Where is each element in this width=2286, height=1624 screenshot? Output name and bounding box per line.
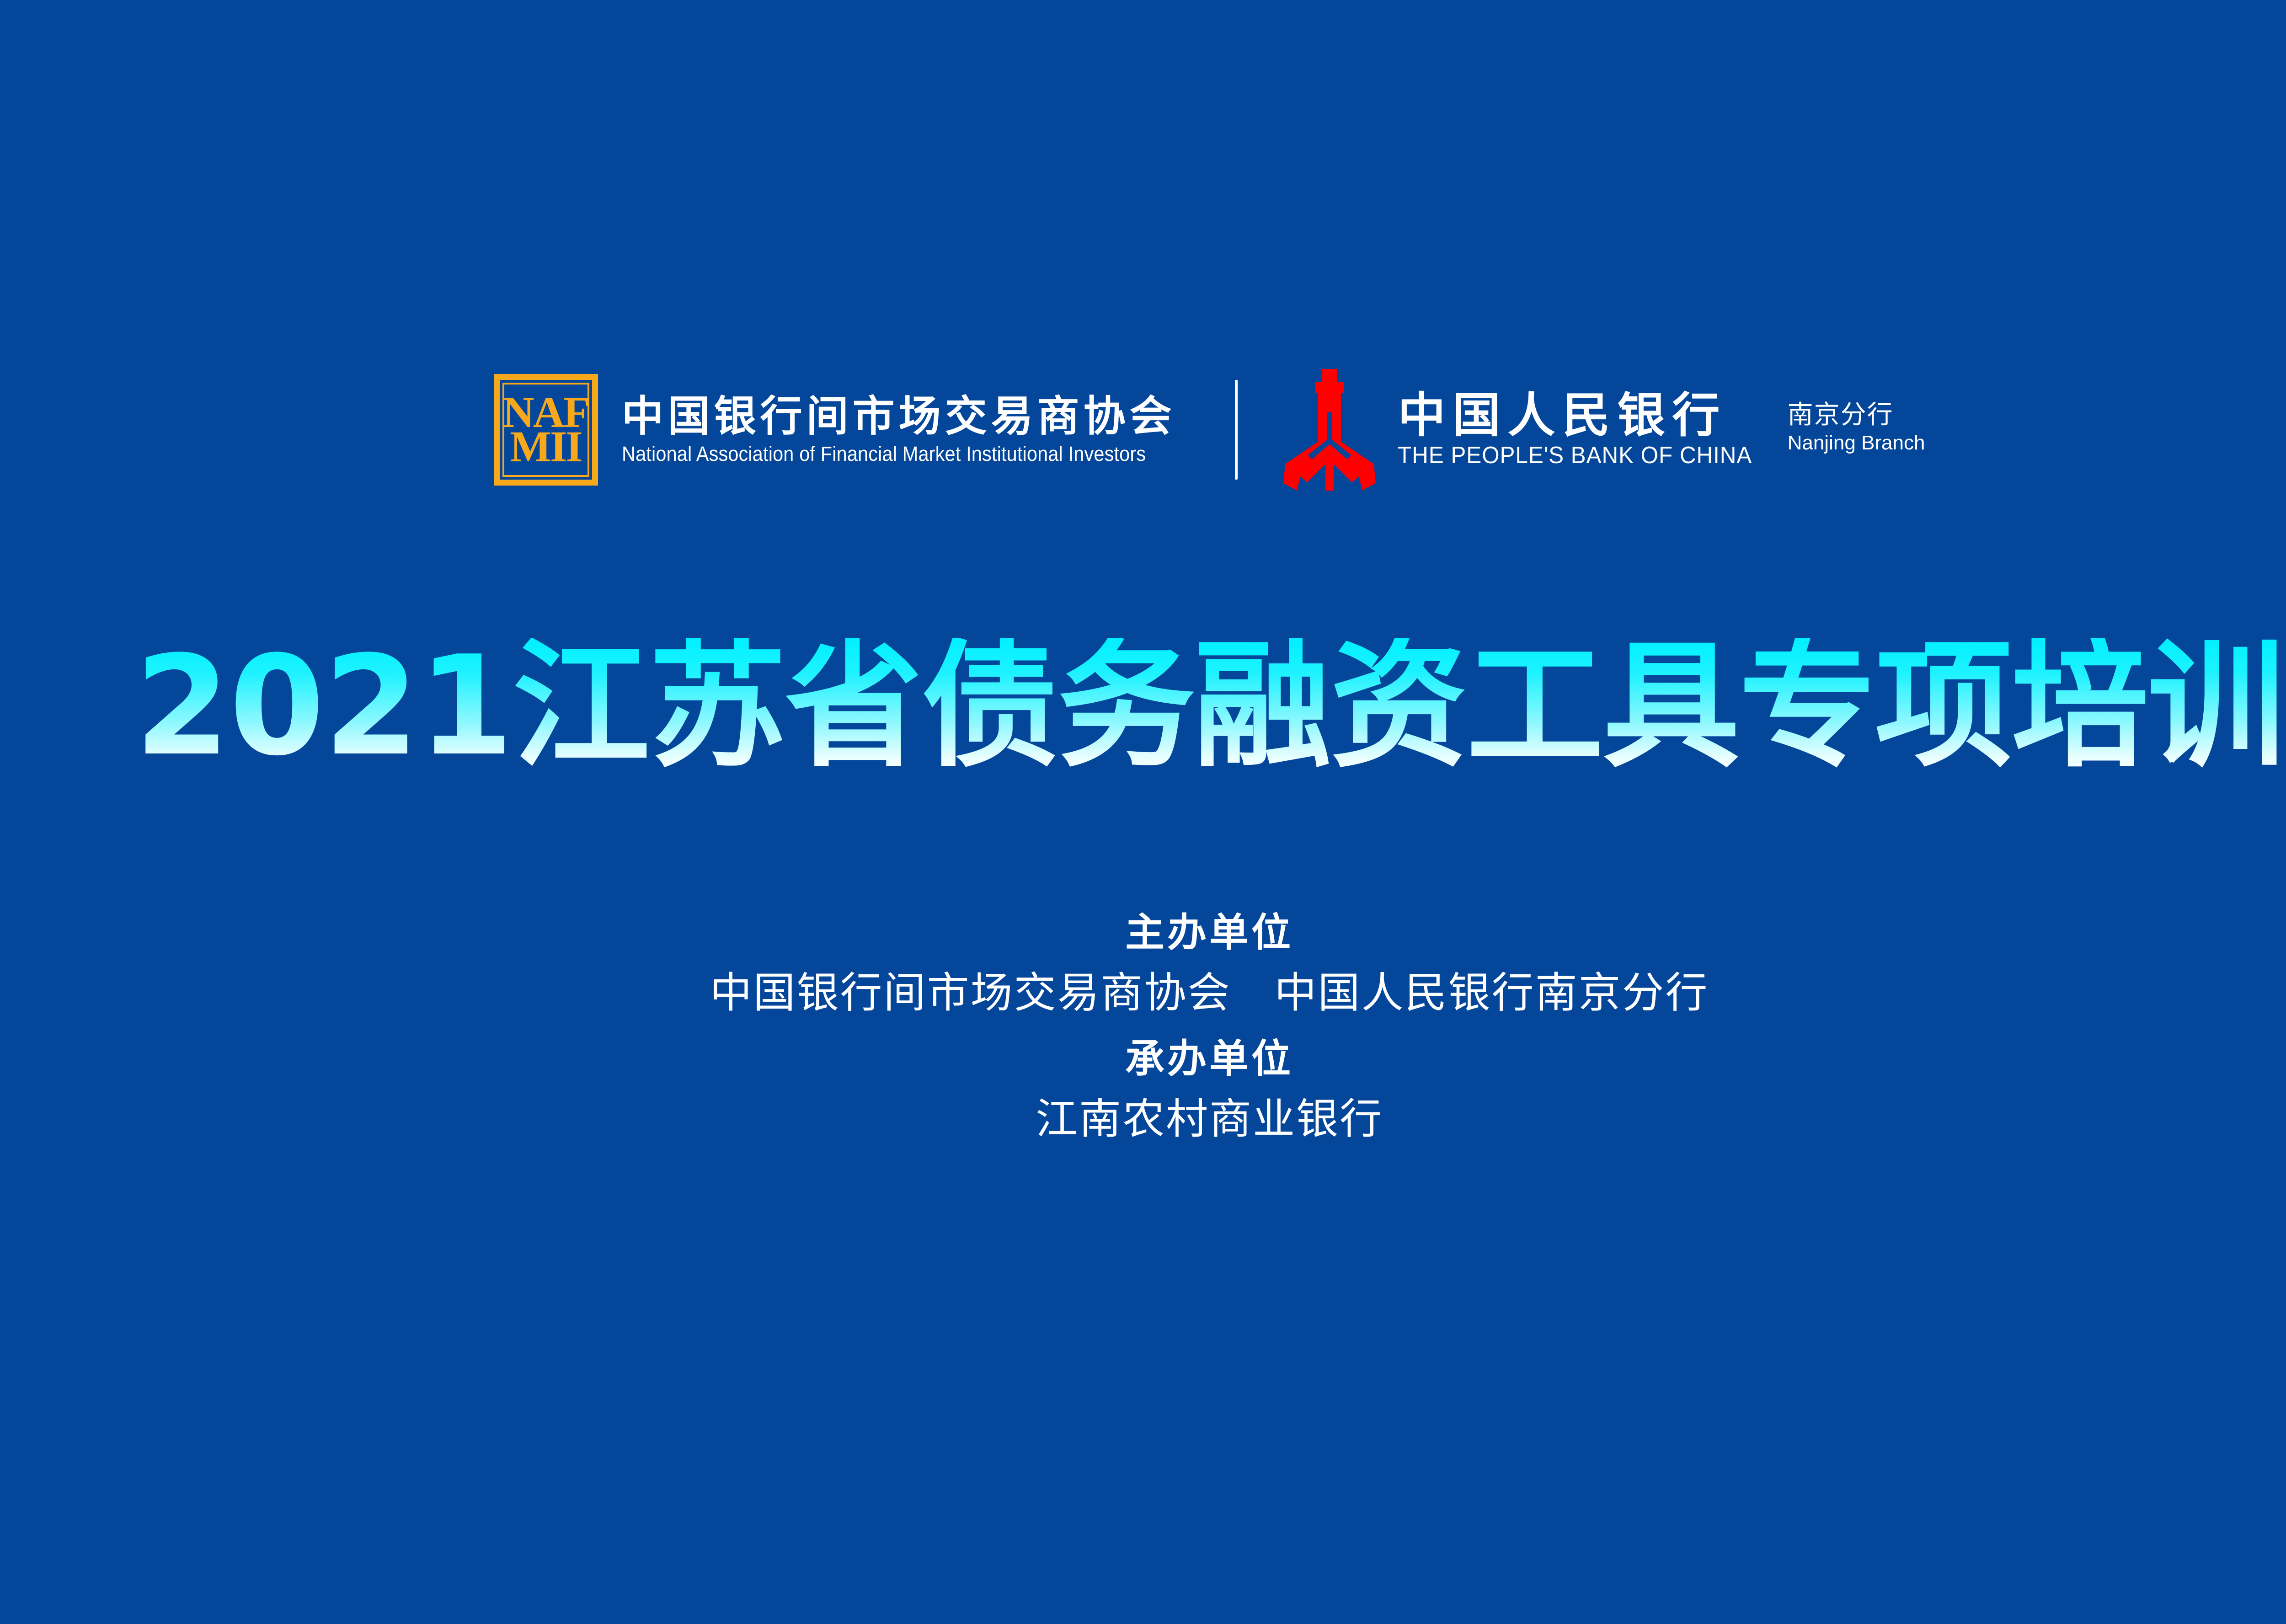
- pboc-logo-group: 中国人民银行 THE PEOPLE'S BANK OF CHINA 南京分行 N…: [1282, 368, 1925, 491]
- nafmii-logo-group: NAF MII 中国银行间市场交易商协会 National Associatio…: [494, 374, 1191, 486]
- nafmii-logo-line-2: MII: [510, 430, 581, 464]
- pboc-branch-block: 南京分行 Nanjing Branch: [1788, 401, 1925, 459]
- logo-divider: [1235, 380, 1238, 480]
- pboc-branch-en: Nanjing Branch: [1788, 432, 1925, 454]
- pboc-branch-cn: 南京分行: [1788, 401, 1925, 430]
- host-value: 中国银行间市场交易商协会 中国人民银行南京分行: [710, 968, 1709, 1018]
- pboc-name-main: 中国人民银行 THE PEOPLE'S BANK OF CHINA: [1398, 390, 1771, 469]
- nafmii-name-en: National Association of Financial Market…: [622, 443, 1146, 465]
- credits-block: 主办单位 中国银行间市场交易商协会 中国人民银行南京分行 承办单位 江南农村商业…: [0, 910, 2286, 1145]
- poster-background: NAF MII 中国银行间市场交易商协会 National Associatio…: [0, 0, 2286, 1624]
- pboc-name-en: THE PEOPLE'S BANK OF CHINA: [1398, 443, 1752, 469]
- nafmii-logo-letters: NAF MII: [500, 380, 592, 480]
- host-label: 主办单位: [1125, 910, 1293, 956]
- main-title-wrap: 2021江苏省债务融资工具专项培训: [0, 624, 2286, 789]
- page-title: 2021江苏省债务融资工具专项培训: [130, 638, 2286, 775]
- pboc-name-block: 中国人民银行 THE PEOPLE'S BANK OF CHINA 南京分行 N…: [1398, 390, 1925, 469]
- nafmii-name-block: 中国银行间市场交易商协会 National Association of Fin…: [622, 394, 1191, 465]
- pboc-name-cn: 中国人民银行: [1398, 390, 1771, 440]
- logo-bar: NAF MII 中国银行间市场交易商协会 National Associatio…: [0, 361, 2286, 498]
- nafmii-logo-icon: NAF MII: [494, 374, 598, 486]
- nafmii-name-cn: 中国银行间市场交易商协会: [622, 394, 1191, 439]
- organizer-value: 江南农村商业银行: [1036, 1094, 1383, 1144]
- organizer-label: 承办单位: [1125, 1036, 1293, 1082]
- pboc-logo-icon: [1282, 368, 1378, 491]
